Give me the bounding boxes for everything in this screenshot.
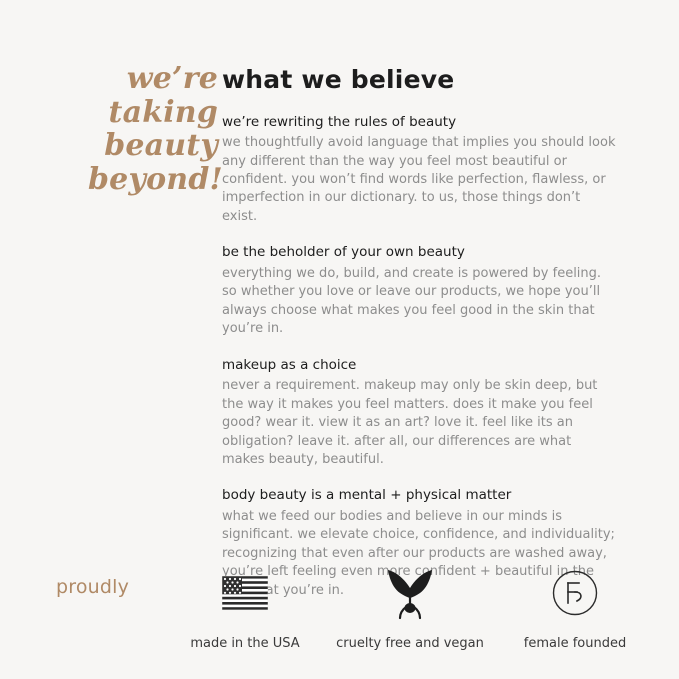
female-founded-seal-icon	[552, 562, 598, 624]
section-body: we thoughtfully avoid language that impl…	[222, 134, 617, 226]
belief-statement-page: we’re taking beauty beyond! what we beli…	[0, 0, 679, 679]
section-body: everything we do, build, and create is p…	[222, 265, 617, 339]
belief-section-3: makeup as a choice never a requirement. …	[222, 357, 622, 470]
proudly-label: proudly	[56, 576, 129, 598]
section-heading: makeup as a choice	[222, 357, 622, 375]
belief-section-1: we’re rewriting the rules of beauty we t…	[222, 114, 622, 227]
badge-female-founded: female founded	[500, 562, 650, 651]
headline-block: we’re taking beauty beyond!	[88, 62, 218, 196]
usa-flag-icon	[222, 562, 268, 624]
belief-section-2: be the beholder of your own beauty every…	[222, 244, 622, 338]
badge-label: female founded	[524, 636, 626, 651]
badge-label: cruelty free and vegan	[336, 636, 484, 651]
badge-row: made in the USA cruelty free and vegan	[170, 562, 650, 651]
badge-made-in-usa: made in the USA	[170, 562, 320, 651]
content-column: what we believe we’re rewriting the rule…	[222, 66, 622, 600]
badge-label: made in the USA	[190, 636, 299, 651]
headline-line-3: beauty	[88, 129, 218, 163]
section-heading: we’re rewriting the rules of beauty	[222, 114, 622, 132]
section-heading: body beauty is a mental + physical matte…	[222, 487, 622, 505]
headline-line-1: we’re	[88, 62, 218, 96]
section-heading: be the beholder of your own beauty	[222, 244, 622, 262]
headline-line-4: beyond!	[88, 163, 218, 197]
headline-line-2: taking	[88, 96, 218, 130]
page-title: what we believe	[222, 66, 622, 94]
badge-cruelty-free: cruelty free and vegan	[335, 562, 485, 651]
section-body: never a requirement. makeup may only be …	[222, 377, 617, 469]
bunny-cruelty-free-icon	[384, 562, 436, 624]
